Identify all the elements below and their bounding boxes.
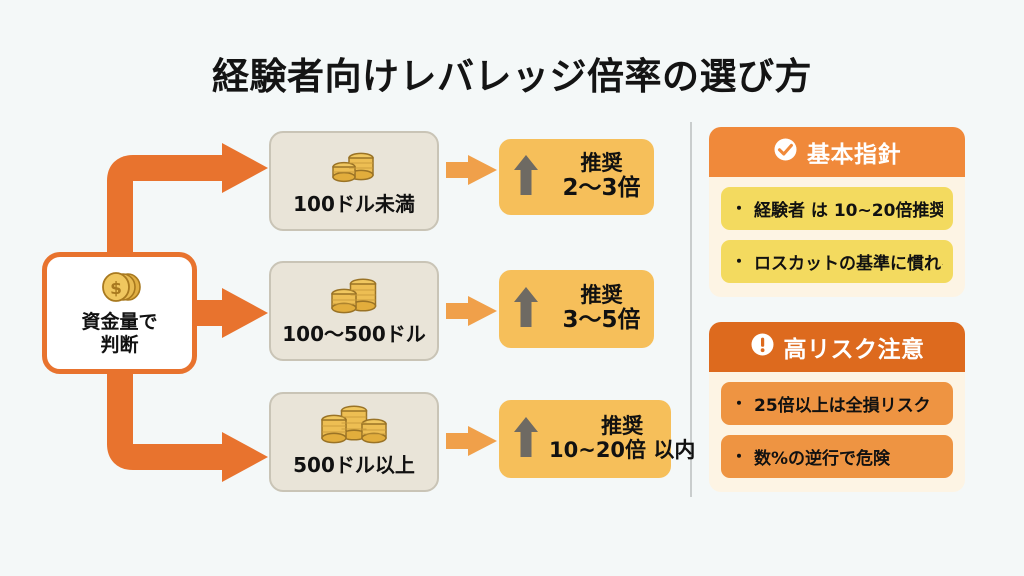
- tier-box-3[interactable]: 500ドル以上: [269, 392, 439, 492]
- recommend-box-1[interactable]: 推奨 2〜3倍: [499, 139, 654, 215]
- up-arrow-icon: [513, 285, 539, 333]
- branch-arrow-head-3: [222, 432, 268, 482]
- bullet-icon: ・: [731, 449, 747, 465]
- risk-card-body: ・ 25倍以上は全損リスク ・ 数%の逆行で危険: [709, 372, 965, 492]
- list-item[interactable]: ・ 経験者 は 10~20倍推奨: [721, 187, 953, 230]
- up-arrow-icon: [513, 153, 539, 201]
- list-item-label: 25倍以上は全損リスク: [754, 391, 931, 416]
- tier-box-1[interactable]: 100ドル未満: [269, 131, 439, 231]
- source-label: 資金量で 判断: [81, 311, 157, 355]
- recommend-box-3[interactable]: 推奨 10~20倍 以内: [499, 400, 671, 478]
- bullet-icon: ・: [731, 201, 747, 217]
- tier-box-2[interactable]: 100〜500ドル: [269, 261, 439, 361]
- risk-card-title: 高リスク注意: [784, 330, 925, 364]
- risk-card: 高リスク注意 ・ 25倍以上は全損リスク ・ 数%の逆行で危険: [709, 322, 965, 492]
- coin-stack-large-icon: [316, 407, 392, 447]
- dollar-coins-icon: $: [96, 270, 144, 308]
- svg-text:$: $: [110, 279, 122, 299]
- recommend-value: 3〜5倍: [562, 307, 640, 335]
- check-circle-icon: [773, 137, 798, 168]
- branch-arrow-head-2: [222, 288, 268, 338]
- exclamation-circle-icon: [750, 332, 775, 363]
- tier-label: 500ドル以上: [293, 449, 415, 478]
- guideline-card: 基本指針 ・ 経験者 は 10~20倍推奨 ・ ロスカットの基準に慣れる: [709, 127, 965, 297]
- infographic-canvas: 経験者向けレバレッジ倍率の選び方: [0, 0, 1024, 576]
- up-arrow-icon: [513, 415, 539, 463]
- guideline-card-header: 基本指針: [709, 127, 965, 177]
- tier-label: 100ドル未満: [293, 188, 415, 217]
- guideline-card-body: ・ 経験者 は 10~20倍推奨 ・ ロスカットの基準に慣れる: [709, 177, 965, 297]
- tier-to-recommend-arrows: [446, 155, 497, 456]
- tier-label: 100〜500ドル: [282, 318, 426, 347]
- coin-stack-medium-icon: [323, 276, 385, 316]
- recommend-caption: 推奨: [601, 414, 643, 438]
- recommend-caption: 推奨: [581, 283, 623, 307]
- recommend-box-2[interactable]: 推奨 3〜5倍: [499, 270, 654, 348]
- recommend-value: 10~20倍 以内: [549, 438, 695, 463]
- bullet-icon: ・: [731, 396, 747, 412]
- list-item[interactable]: ・ 数%の逆行で危険: [721, 435, 953, 478]
- coin-stack-small-icon: [325, 146, 383, 186]
- recommend-value: 2〜3倍: [562, 175, 640, 203]
- guideline-card-title: 基本指針: [807, 135, 901, 169]
- list-item[interactable]: ・ 25倍以上は全損リスク: [721, 382, 953, 425]
- branch-arrow-head-1: [222, 143, 268, 193]
- list-item-label: 数%の逆行で危険: [754, 444, 890, 469]
- list-item-label: 経験者 は 10~20倍推奨: [754, 196, 943, 221]
- list-item[interactable]: ・ ロスカットの基準に慣れる: [721, 240, 953, 283]
- source-node[interactable]: $ 資金量で 判断: [42, 252, 197, 374]
- bullet-icon: ・: [731, 254, 747, 270]
- recommend-caption: 推奨: [581, 151, 623, 175]
- list-item-label: ロスカットの基準に慣れる: [754, 249, 943, 274]
- risk-card-header: 高リスク注意: [709, 322, 965, 372]
